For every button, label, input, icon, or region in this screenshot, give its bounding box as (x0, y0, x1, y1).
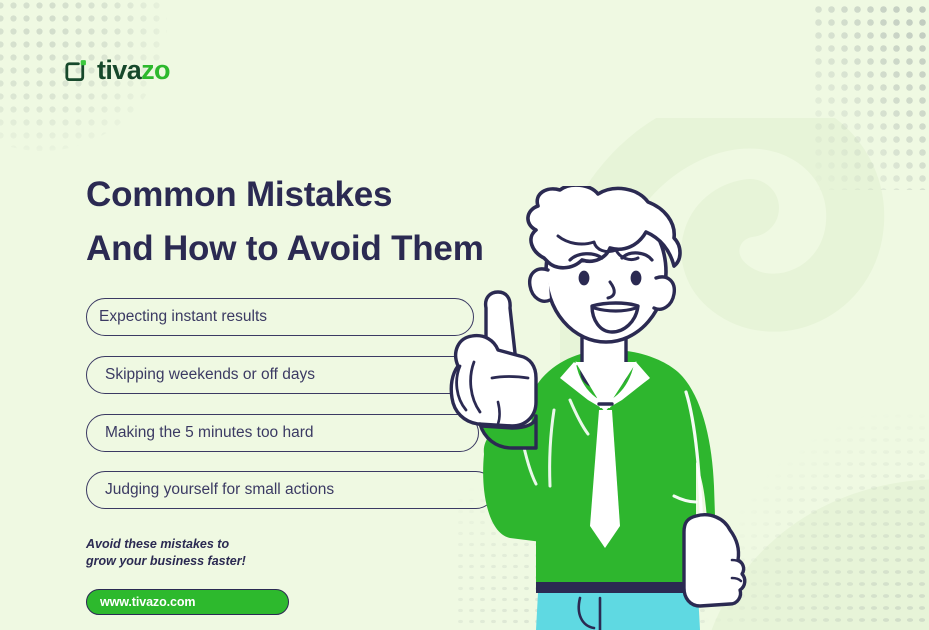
page-title: Common Mistakes And How to Avoid Them (86, 168, 556, 276)
brand-logo[interactable]: tivazo (62, 57, 170, 84)
background-swoosh-bottom (690, 420, 929, 630)
brand-name: tivazo (97, 57, 170, 84)
page-title-line2: And How to Avoid Them (86, 222, 556, 276)
background-swoosh-top (560, 118, 890, 408)
halftone-top-right (812, 0, 929, 190)
tagline: Avoid these mistakes to grow your busine… (86, 536, 326, 570)
brand-name-part1: tiva (97, 55, 141, 85)
list-item[interactable]: Making the 5 minutes too hard (86, 414, 479, 452)
brand-name-part2: zo (141, 55, 170, 85)
halftone-bottom-center (455, 440, 705, 630)
list-item-label: Judging yourself for small actions (87, 482, 334, 498)
tagline-line1: Avoid these mistakes to (86, 536, 326, 553)
website-cta-button[interactable]: www.tivazo.com (86, 589, 289, 615)
list-item-label: Expecting instant results (87, 309, 267, 325)
list-item[interactable]: Expecting instant results (86, 298, 474, 336)
tagline-line2: grow your business faster! (86, 553, 326, 570)
poster-canvas: tivazo Common Mistakes And How to Avoid … (0, 0, 929, 630)
list-item[interactable]: Judging yourself for small actions (86, 471, 495, 509)
list-item-label: Skipping weekends or off days (87, 367, 315, 383)
page-title-line1: Common Mistakes (86, 175, 392, 214)
list-item[interactable]: Skipping weekends or off days (86, 356, 479, 394)
website-cta-label: www.tivazo.com (87, 596, 195, 609)
tivazo-bracket-icon (62, 57, 89, 84)
halftone-bottom-right (700, 398, 929, 630)
list-item-label: Making the 5 minutes too hard (87, 425, 314, 441)
